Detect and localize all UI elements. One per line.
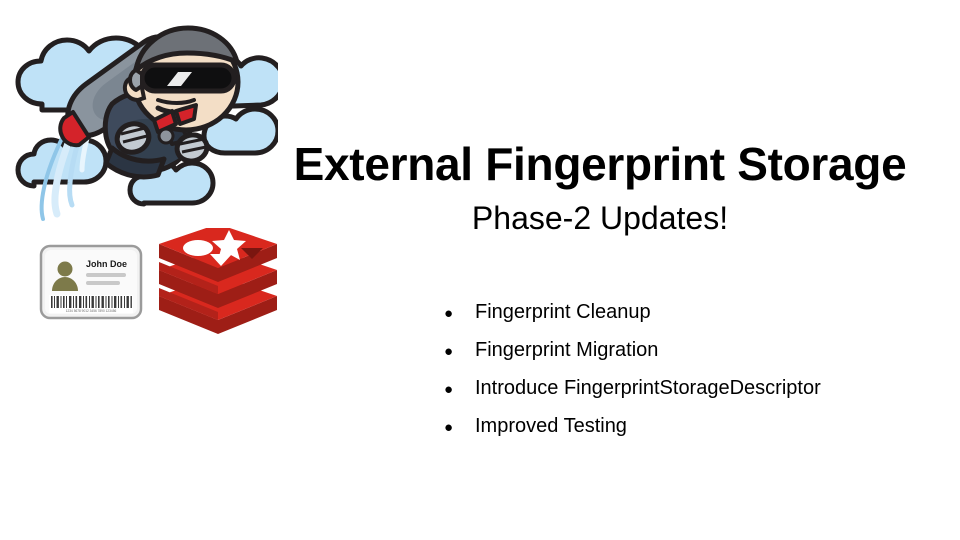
bullet-point-icon: ● xyxy=(444,338,475,366)
title-block: External Fingerprint Storage Phase-2 Upd… xyxy=(250,136,950,240)
list-item: ● Improved Testing xyxy=(444,412,914,450)
list-item: ● Fingerprint Migration xyxy=(444,336,914,374)
bullet-label: Fingerprint Cleanup xyxy=(475,298,651,326)
employee-id-card: John Doe xyxy=(38,243,144,321)
slide-title: External Fingerprint Storage xyxy=(250,136,950,192)
bullet-list: ● Fingerprint Cleanup ● Fingerprint Migr… xyxy=(444,298,914,450)
redis-logo xyxy=(155,228,281,338)
bullet-point-icon: ● xyxy=(444,300,475,328)
slide-canvas: John Doe xyxy=(0,0,960,540)
slide-subtitle: Phase-2 Updates! xyxy=(250,196,950,240)
jetpack-rider-illustration xyxy=(8,8,278,238)
list-item: ● Introduce FingerprintStorageDescriptor xyxy=(444,374,914,412)
bullet-label: Introduce FingerprintStorageDescriptor xyxy=(475,374,821,402)
bullet-label: Fingerprint Migration xyxy=(475,336,658,364)
bullet-label: Improved Testing xyxy=(475,412,627,440)
badge-holder-name: John Doe xyxy=(86,259,127,269)
badge-barcode-caption: 1234 5678 9012 3456 7890 123456 xyxy=(66,309,117,313)
badge-barcode: 1234 5678 9012 3456 7890 123456 xyxy=(49,295,133,313)
bullet-point-icon: ● xyxy=(444,376,475,404)
bullet-point-icon: ● xyxy=(444,414,475,442)
list-item: ● Fingerprint Cleanup xyxy=(444,298,914,336)
